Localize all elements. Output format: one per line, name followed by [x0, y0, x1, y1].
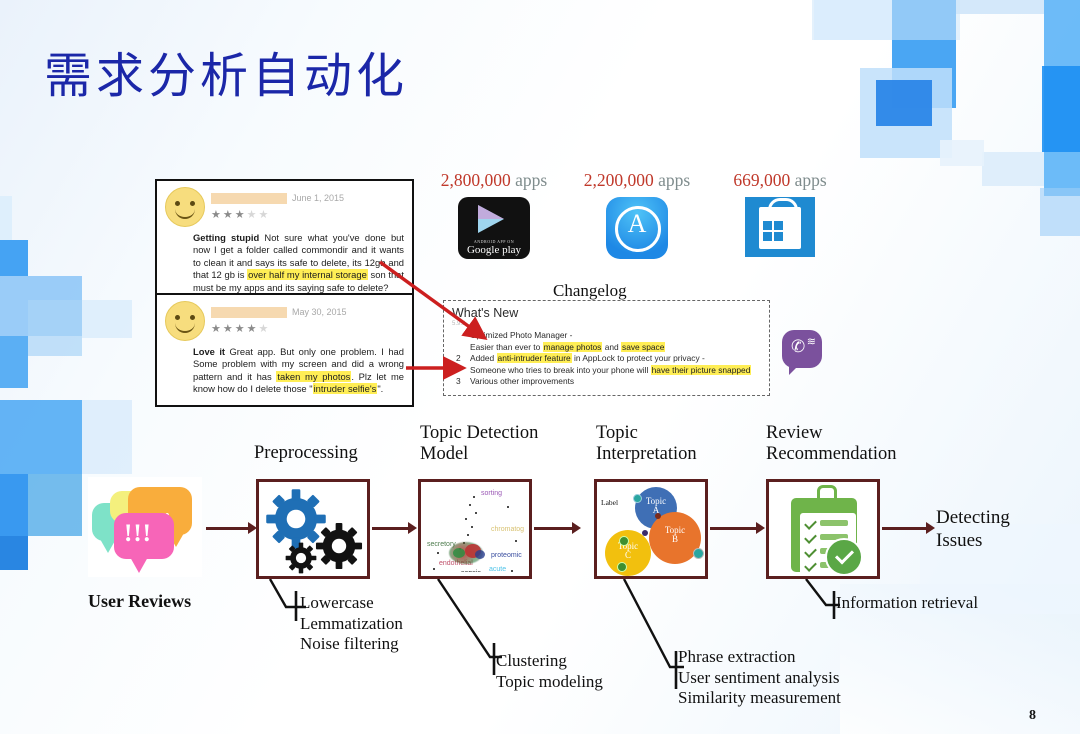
changelog-item-mid: and [602, 342, 621, 352]
annotation-review-recommendation: Information retrieval [836, 593, 978, 614]
annotation-line: Lowercase [300, 593, 374, 612]
annotation-line: Topic modeling [496, 672, 603, 691]
app-store-counts: 2,800,000 apps ANDROID APP ONGoogle play… [424, 170, 844, 270]
changelog-item-text: Various other improvements [470, 376, 574, 386]
scatter-word: acute [489, 566, 506, 572]
store-count-line: 2,800,000 apps [424, 170, 564, 191]
scatter-word: chromatog [491, 526, 524, 533]
review-text: Love it Great app. But only one problem.… [165, 346, 404, 396]
review-highlight-2: intruder selfie's [313, 383, 378, 394]
store-windows-store: 669,000 apps [710, 170, 850, 257]
review-headline: Getting stupid [193, 232, 259, 243]
changelog-item-text2: Someone who tries to break into your pho… [470, 365, 651, 375]
store-unit: apps [658, 170, 690, 190]
user-reviews-panel: June 1, 2015 ★★★★★ Getting stupid Not su… [155, 179, 414, 407]
review-highlight: over half my internal storage [247, 269, 368, 280]
red-arrow-2 [404, 356, 474, 380]
review-text-after: ". [377, 383, 383, 394]
app-store-icon: A [606, 197, 668, 259]
leader-line-topic-interpretation [600, 579, 690, 689]
connector-arrow-output [882, 527, 928, 530]
scatter-word: sepsis [461, 570, 481, 572]
stage-label-line1: Preprocessing [254, 443, 358, 463]
stage-box-preprocessing[interactable] [256, 479, 370, 579]
store-count-line: 669,000 apps [710, 170, 850, 191]
topic-marker [617, 562, 627, 572]
review-date: June 1, 2015 [292, 193, 344, 203]
annotation-line: Clustering [496, 651, 567, 670]
changelog-item-mid: in AppLock to protect your privacy - [572, 353, 705, 363]
store-count: 2,200,000 [584, 170, 654, 190]
scatter-word: proteomic [491, 552, 522, 559]
google-play-name: Google play [467, 244, 521, 256]
annotation-line: Noise filtering [300, 634, 399, 653]
slide-root: 需求分析自动化 June 1, 2015 ★★★★★ Getting stupi… [0, 0, 1080, 734]
viber-icon: ✆≋ [782, 330, 826, 374]
check-badge-icon [825, 538, 863, 576]
stage-label-topic-detection: Topic Detection Model [420, 423, 538, 464]
connector-arrow [206, 527, 250, 530]
topic-bubbles-icon: Topic A Topic B Topic C Label [597, 482, 705, 576]
topic-marker [642, 530, 648, 536]
annotation-line: Lemmatization [300, 614, 403, 633]
store-unit: apps [795, 170, 827, 190]
annotation-topic-detection: Clustering Topic modeling [496, 651, 603, 692]
topic-bubble-c: Topic C [605, 530, 651, 576]
review-headline: Love it [193, 346, 225, 357]
avatar [165, 187, 205, 227]
review-item: May 30, 2015 ★★★★★ Love it Great app. Bu… [157, 293, 412, 405]
store-app-store: 2,200,000 apps A [567, 170, 707, 259]
scatter-word: sorting [481, 490, 502, 497]
redacted-username [211, 193, 287, 204]
topic-marker [633, 494, 642, 503]
changelog-version: 5.9.8 [452, 321, 761, 327]
review-item: June 1, 2015 ★★★★★ Getting stupid Not su… [157, 181, 412, 293]
stage-label-line1: Topic [596, 423, 638, 443]
slide-title: 需求分析自动化 [44, 36, 408, 106]
topic-label-text: Label [601, 498, 618, 507]
store-count: 2,800,000 [441, 170, 511, 190]
user-reviews-image: ••• !!! [88, 477, 202, 577]
avatar [165, 301, 205, 341]
connector-arrow [710, 527, 758, 530]
topic-marker [619, 536, 629, 546]
checklist-clipboard-icon [787, 490, 861, 574]
changelog-item: Optimized Photo Manager - Easier than ev… [452, 330, 761, 353]
stage-label-line2: Model [420, 444, 468, 464]
leader-line-topic-detection [424, 579, 504, 675]
review-date: May 30, 2015 [292, 307, 347, 317]
google-play-icon: ANDROID APP ONGoogle play [458, 197, 530, 259]
connector-arrowhead [756, 522, 765, 534]
connector-arrowhead [926, 522, 935, 534]
changelog-highlight-2: save space [621, 342, 665, 352]
stage-label-topic-interpretation: Topic Interpretation [596, 423, 697, 464]
star-rating: ★★★★★ [211, 324, 404, 335]
topic-bubble-sub: C [625, 550, 631, 560]
connector-arrow [372, 527, 410, 530]
review-text: Getting stupid Not sure what you've done… [165, 232, 404, 294]
store-count: 669,000 [733, 170, 790, 190]
topic-marker [655, 513, 661, 519]
changelog-item: 2 Added anti-intruder feature in AppLock… [452, 353, 761, 376]
annotation-line: Similarity measurement [678, 688, 841, 707]
topic-marker [693, 548, 704, 559]
annotation-topic-interpretation: Phrase extraction User sentiment analysi… [678, 647, 841, 709]
output-label: Detecting Issues [936, 507, 1010, 553]
output-line1: Detecting [936, 507, 1010, 528]
annotation-preprocessing: Lowercase Lemmatization Noise filtering [300, 593, 403, 655]
review-highlight: taken my photos [276, 371, 351, 382]
store-count-line: 2,200,000 apps [567, 170, 707, 191]
changelog-item: 3 Various other improvements [452, 376, 761, 388]
scatter-plot-icon: sorting chromatog secretory proteomic en… [425, 486, 525, 572]
connector-arrowhead [408, 522, 417, 534]
connector-arrowhead [572, 522, 581, 534]
gears-icon [259, 482, 367, 576]
redacted-username [211, 307, 287, 318]
stage-label-preprocessing: Preprocessing [254, 443, 358, 464]
star-rating: ★★★★★ [211, 210, 404, 221]
user-reviews-caption: User Reviews [88, 591, 191, 612]
stage-label-line2: Recommendation [766, 444, 897, 464]
stage-box-topic-interpretation[interactable]: Topic A Topic B Topic C Label [594, 479, 708, 579]
annotation-line: User sentiment analysis [678, 668, 839, 687]
pipeline: ••• !!! User Reviews Preprocessing [0, 415, 1080, 734]
changelog-list: Optimized Photo Manager - Easier than ev… [452, 330, 761, 388]
stage-label-review-recommendation: Review Recommendation [766, 423, 897, 464]
output-line2: Issues [936, 530, 982, 551]
annotation-line: Phrase extraction [678, 647, 796, 666]
store-google-play: 2,800,000 apps ANDROID APP ONGoogle play [424, 170, 564, 259]
page-number: 8 [1029, 708, 1036, 724]
changelog-highlight-2: have their picture snapped [651, 365, 752, 375]
annotation-line: Information retrieval [836, 593, 978, 612]
stage-box-review-recommendation[interactable] [766, 479, 880, 579]
topic-bubble-sub: B [672, 534, 678, 544]
stage-label-line1: Topic Detection [420, 423, 538, 443]
connector-arrow [534, 527, 574, 530]
changelog-highlight: manage photos [543, 342, 603, 352]
red-arrow-1 [378, 258, 498, 348]
store-unit: apps [515, 170, 547, 190]
changelog-title: Changelog [553, 281, 627, 301]
windows-store-icon [745, 197, 815, 257]
changelog-highlight: anti-intruder feature [497, 353, 572, 363]
changelog-heading: What's New [452, 306, 761, 320]
stage-box-topic-detection[interactable]: sorting chromatog secretory proteomic en… [418, 479, 532, 579]
stage-label-line2: Interpretation [596, 444, 697, 464]
stage-label-line1: Review [766, 423, 823, 443]
